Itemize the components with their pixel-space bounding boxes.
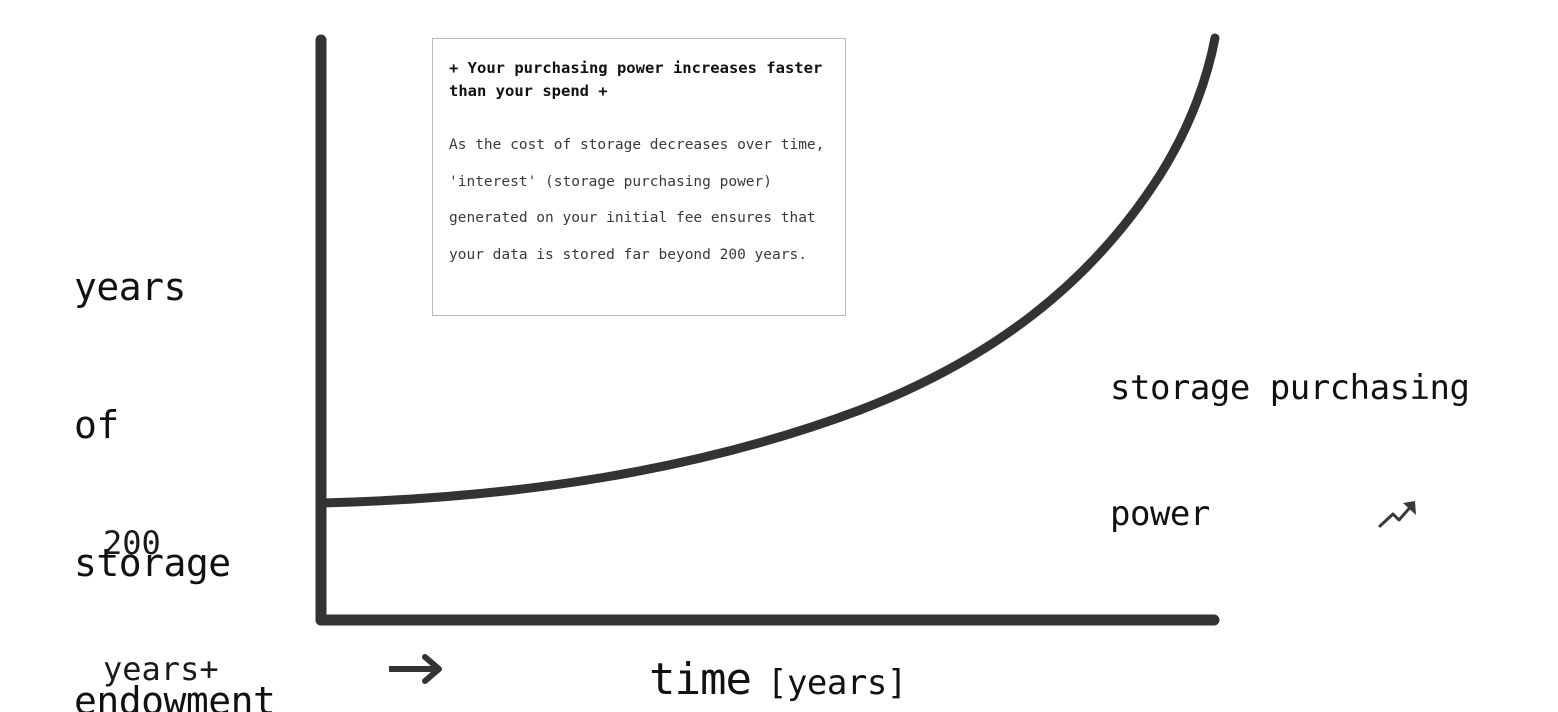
x-axis-label-unit: [years]	[767, 658, 907, 708]
y-axis-label-line-1: years	[74, 264, 275, 310]
callout-heading: + Your purchasing power increases faster…	[449, 57, 829, 103]
chart-canvas: years of storage endowment 200 years+ st…	[0, 0, 1558, 712]
trend-up-icon	[1216, 497, 1260, 531]
callout-body: As the cost of storage decreases over ti…	[449, 127, 829, 273]
series-label-line-1: storage purchasing	[1110, 367, 1469, 409]
annotation-200-line-2: years+	[103, 648, 219, 690]
x-axis-label: time [years]	[649, 655, 907, 708]
arrow-right-icon	[233, 654, 291, 684]
series-label-storage-purchasing-power: storage purchasing power	[1110, 283, 1469, 619]
x-axis-label-main: time	[649, 655, 751, 705]
annotation-200-line-1: 200	[103, 522, 291, 564]
annotation-200-years: 200 years+	[103, 438, 291, 712]
series-label-line-2: power	[1110, 493, 1210, 535]
callout-box: + Your purchasing power increases faster…	[432, 38, 846, 316]
